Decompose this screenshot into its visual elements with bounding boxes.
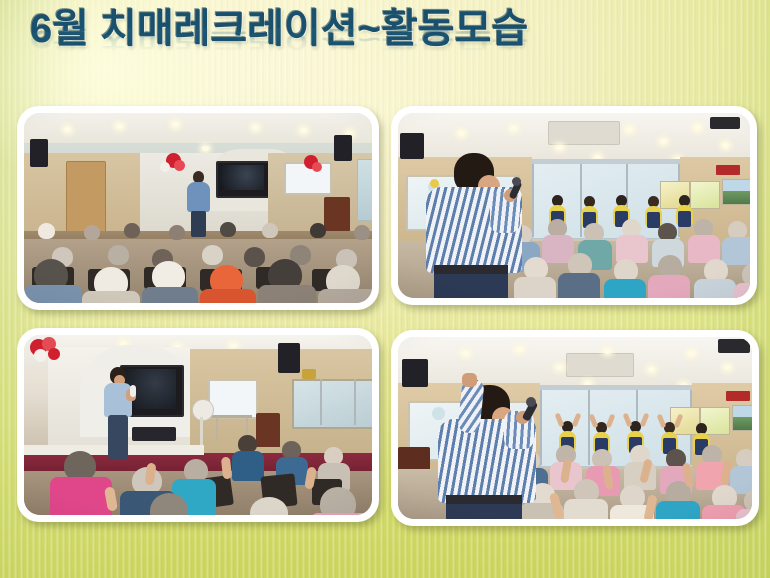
photo-bottom-right[interactable] xyxy=(391,330,759,526)
photo-top-right[interactable] xyxy=(391,106,757,305)
presentation-slide: 6월 치매레크레이션~활동모습 6월 치매레크레이션~활동모습 xyxy=(0,0,770,578)
photo-bottom-right-image xyxy=(398,337,752,519)
photo-top-left-image xyxy=(24,113,372,303)
photo-bottom-left[interactable] xyxy=(17,328,379,522)
photo-top-left[interactable] xyxy=(17,106,379,310)
photo-bottom-left-image xyxy=(24,335,372,515)
slide-title-reflection: 6월 치매레크레이션~활동모습 xyxy=(30,26,730,52)
slide-title-block: 6월 치매레크레이션~활동모습 6월 치매레크레이션~활동모습 xyxy=(30,8,730,96)
photo-top-right-image xyxy=(398,113,750,298)
